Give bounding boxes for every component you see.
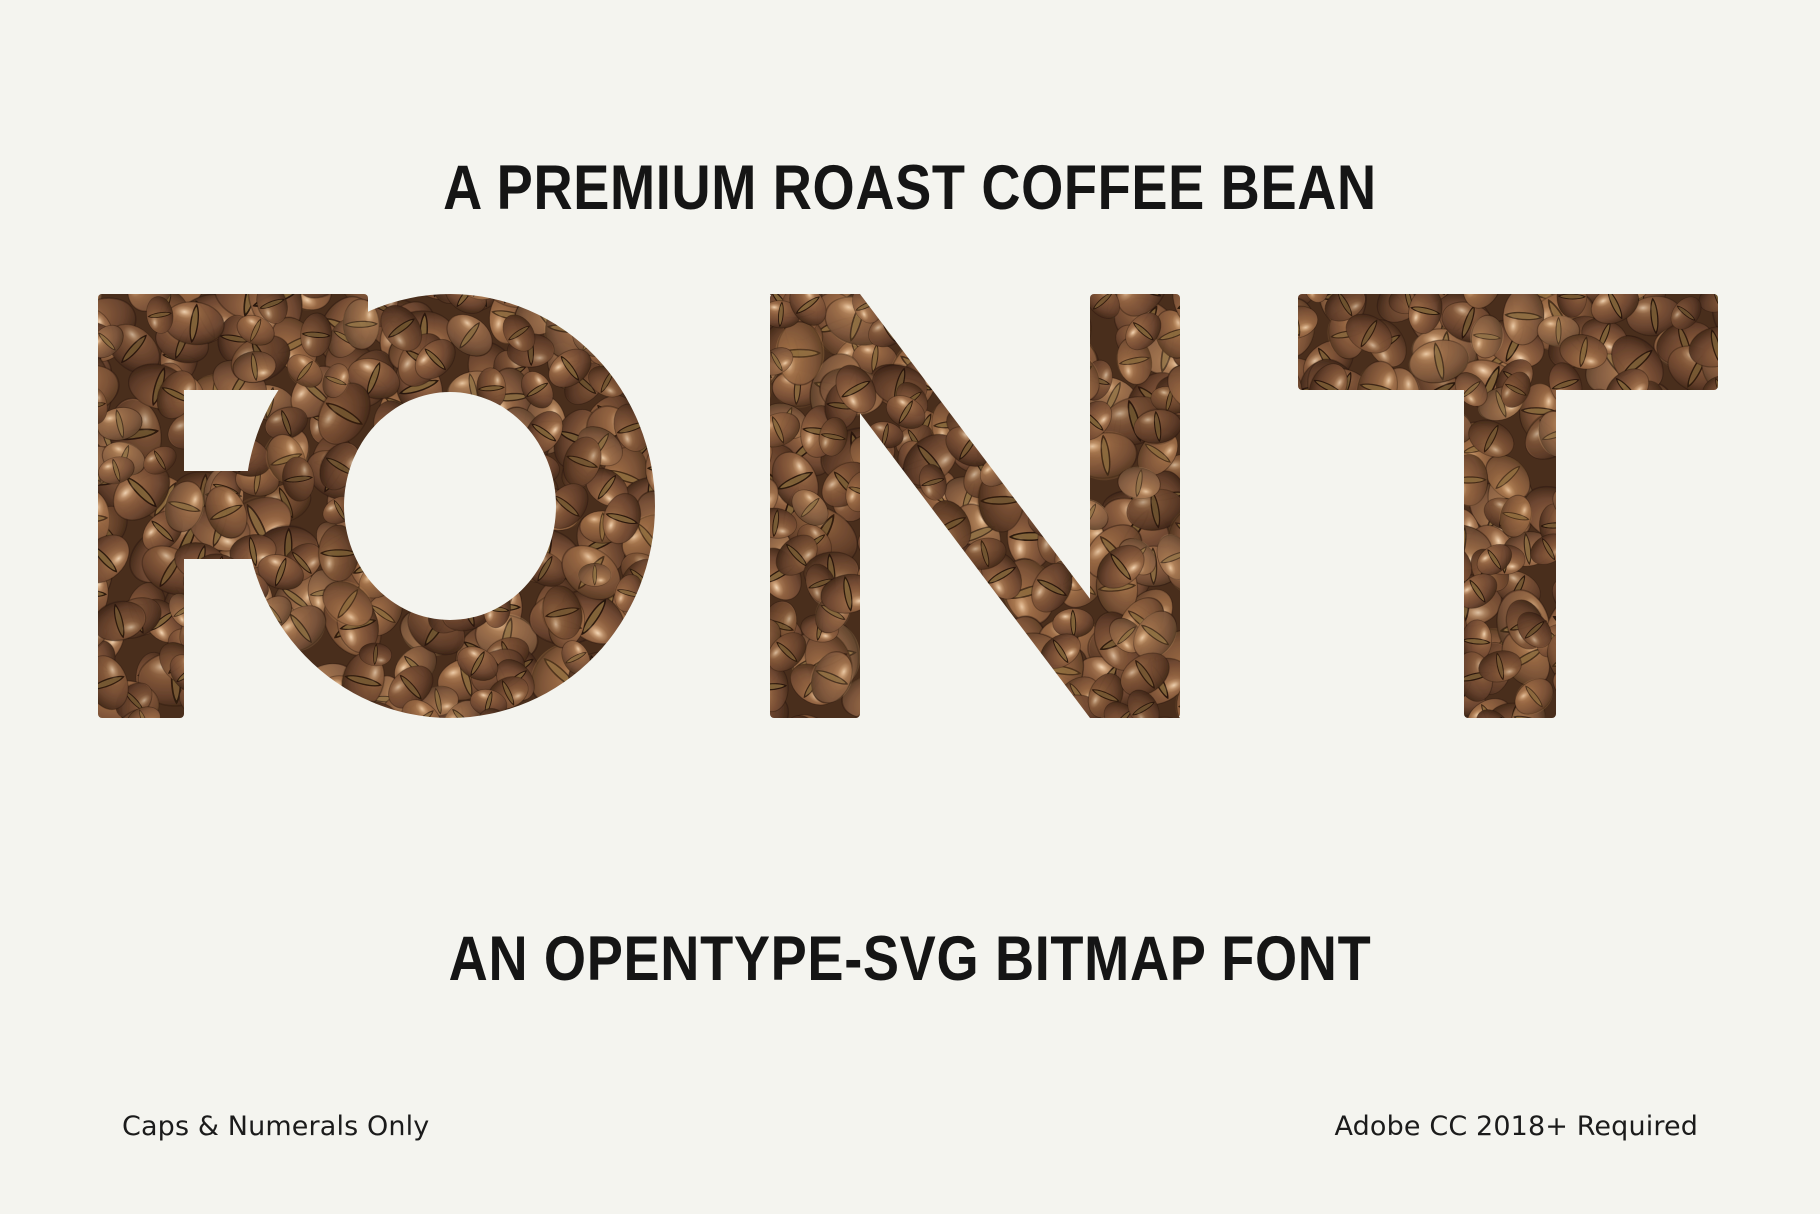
page-title: A PREMIUM ROAST COFFEE BEAN bbox=[127, 157, 1692, 220]
hero-word-font-coffee-beans bbox=[80, 286, 1740, 726]
bean-fill-group bbox=[80, 286, 1740, 726]
coffee-bean-letters-svg bbox=[80, 286, 1740, 726]
subtitle: AN OPENTYPE-SVG BITMAP FONT bbox=[127, 928, 1692, 991]
poster-canvas: A PREMIUM ROAST COFFEE BEAN bbox=[0, 0, 1820, 1214]
caption-caps-numerals: Caps & Numerals Only bbox=[122, 1113, 429, 1140]
caption-adobe-requirement: Adobe CC 2018+ Required bbox=[1335, 1113, 1698, 1140]
